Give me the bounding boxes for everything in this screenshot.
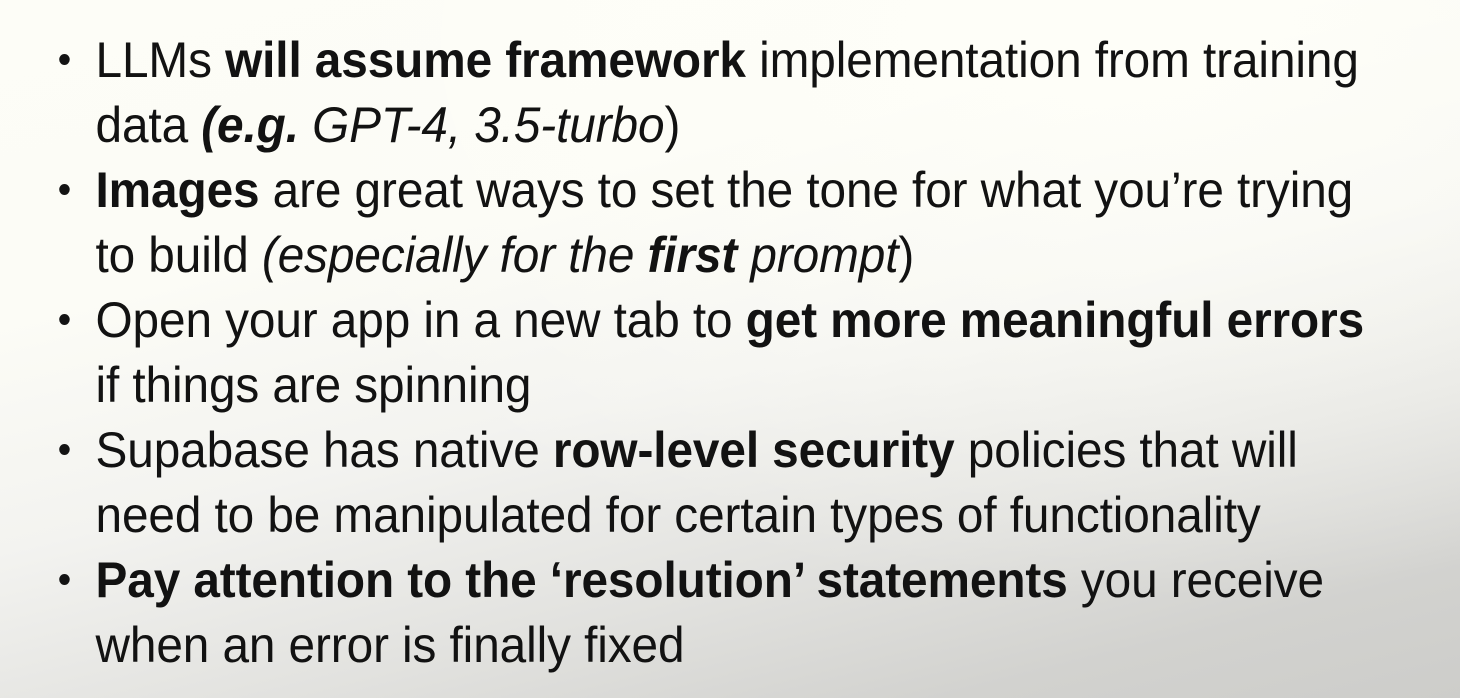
list-item: Pay attention to the ‘resolution’ statem… [0, 548, 1394, 678]
list-item: LLMs will assume framework implementatio… [0, 28, 1394, 158]
list-item: Open your app in a new tab to get more m… [0, 288, 1394, 418]
bullet-point-icon [59, 574, 70, 585]
slide-canvas: LLMs will assume framework implementatio… [0, 0, 1460, 698]
list-item-text: Images are great ways to set the tone fo… [96, 162, 1354, 283]
bullet-point-icon [59, 444, 70, 455]
list-item-text: Supabase has native row-level security p… [96, 422, 1298, 543]
list-item-text: Open your app in a new tab to get more m… [96, 292, 1365, 413]
bullet-point-icon [59, 314, 70, 325]
list-item-text: LLMs will assume framework implementatio… [96, 32, 1359, 153]
list-item: Supabase has native row-level security p… [0, 418, 1394, 548]
bullet-point-icon [59, 184, 70, 195]
bullet-point-icon [59, 54, 70, 65]
bullet-list: LLMs will assume framework implementatio… [0, 28, 1460, 678]
list-item: Images are great ways to set the tone fo… [0, 158, 1394, 288]
list-item-text: Pay attention to the ‘resolution’ statem… [96, 552, 1325, 673]
